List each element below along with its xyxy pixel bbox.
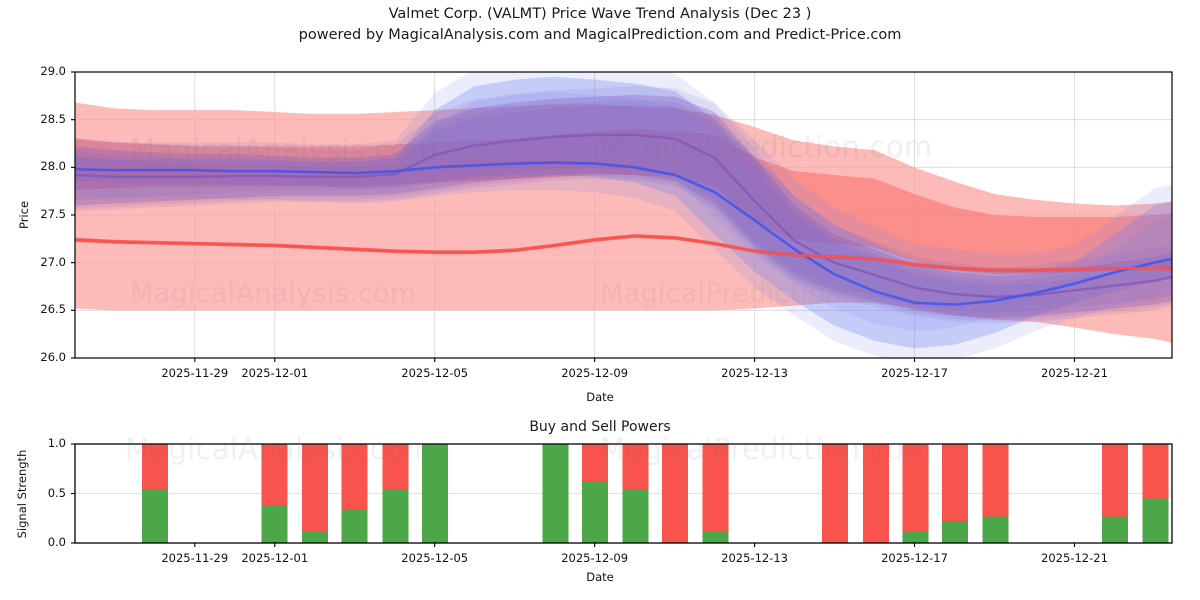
signal-bar-sell: [662, 444, 688, 543]
signal-y-tick-label: 0.0: [18, 535, 66, 549]
signal-bar-buy: [703, 532, 729, 543]
price-x-tick-label: 2025-12-17: [867, 366, 963, 380]
signal-x-tick-label: 2025-12-13: [707, 551, 803, 565]
price-x-tick-label: 2025-12-09: [547, 366, 643, 380]
price-y-tick-label: 28.0: [18, 159, 66, 173]
signal-bar-sell: [1102, 444, 1128, 516]
signal-bar-buy: [1143, 498, 1169, 543]
signal-bar-buy: [942, 521, 968, 543]
price-x-tick-label: 2025-12-05: [387, 366, 483, 380]
signal-x-tick-label: 2025-12-17: [867, 551, 963, 565]
signal-bar-buy: [382, 490, 408, 543]
signal-bar-sell: [982, 444, 1008, 516]
signal-y-tick-label: 0.5: [18, 486, 66, 500]
signal-bar-buy: [342, 509, 368, 543]
signal-bar-sell: [582, 444, 608, 482]
signal-bar-sell: [1143, 444, 1169, 498]
signal-bar-sell: [382, 444, 408, 490]
signal-bar-buy: [142, 490, 168, 543]
price-y-tick-label: 27.0: [18, 255, 66, 269]
price-x-tick-label: 2025-12-13: [707, 366, 803, 380]
signal-bar-buy: [582, 482, 608, 543]
signal-bar-sell: [142, 444, 168, 490]
signal-x-tick-label: 2025-12-21: [1026, 551, 1122, 565]
screenshot-root: Valmet Corp. (VALMT) Price Wave Trend An…: [0, 0, 1200, 600]
price-x-tick-label: 2025-12-21: [1026, 366, 1122, 380]
signal-bar-buy: [902, 532, 928, 543]
signal-bar-sell: [302, 444, 328, 532]
price-y-tick-label: 27.5: [18, 207, 66, 221]
signal-bar-buy: [542, 444, 568, 543]
signal-bar-sell: [342, 444, 368, 509]
signal-chart-canvas: [0, 0, 1200, 600]
price-y-tick-label: 29.0: [18, 64, 66, 78]
signal-x-tick-label: 2025-12-09: [547, 551, 643, 565]
signal-y-tick-label: 1.0: [18, 436, 66, 450]
signal-bar-buy: [422, 444, 448, 543]
signal-x-axis-label: Date: [0, 570, 1200, 584]
signal-bar-sell: [902, 444, 928, 532]
signal-bar-sell: [703, 444, 729, 532]
signal-bar-buy: [262, 505, 288, 543]
price-y-tick-label: 28.5: [18, 112, 66, 126]
signal-bar-buy: [1102, 516, 1128, 543]
price-x-tick-label: 2025-12-01: [227, 366, 323, 380]
signal-x-tick-label: 2025-12-05: [387, 551, 483, 565]
signal-bar-sell: [822, 444, 848, 543]
signal-bar-buy: [982, 516, 1008, 543]
signal-bar-sell: [863, 444, 889, 543]
signal-chart-title: Buy and Sell Powers: [0, 419, 1200, 435]
price-y-tick-label: 26.5: [18, 302, 66, 316]
price-y-tick-label: 26.0: [18, 350, 66, 364]
signal-bar-buy: [623, 490, 649, 543]
signal-bar-sell: [623, 444, 649, 490]
signal-bar-buy: [302, 532, 328, 543]
signal-x-tick-label: 2025-12-01: [227, 551, 323, 565]
signal-bar-sell: [262, 444, 288, 505]
signal-bar-sell: [942, 444, 968, 521]
